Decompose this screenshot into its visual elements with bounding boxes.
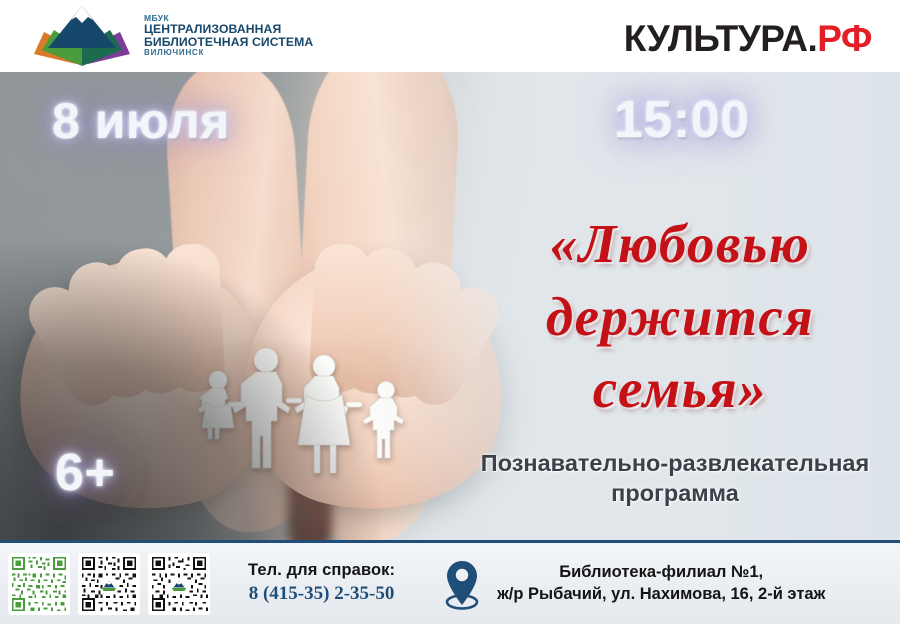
event-title-line-2: держится: [470, 281, 890, 354]
venue-address: Библиотека-филиал №1, ж/р Рыбачий, ул. Н…: [497, 562, 825, 604]
event-date: 8 июля: [52, 92, 230, 150]
address-line-1: Библиотека-филиал №1,: [497, 562, 825, 583]
poster-header: МБУК ЦЕНТРАЛИЗОВАННАЯ БИБЛИОТЕЧНАЯ СИСТЕ…: [0, 0, 900, 72]
event-title-line-1: «Любовью: [470, 208, 890, 281]
kultura-dot: .: [807, 18, 817, 59]
event-subtitle-line-1: Познавательно-развлекательная: [481, 450, 869, 476]
library-logo: МБУК ЦЕНТРАЛИЗОВАННАЯ БИБЛИОТЕЧНАЯ СИСТЕ…: [30, 4, 313, 68]
qr-code-black-1[interactable]: [78, 553, 140, 615]
event-subtitle: Познавательно-развлекательная программа: [455, 448, 895, 508]
event-title: «Любовью держится семья»: [470, 208, 890, 426]
phone-info: Тел. для справок: 8 (415-35) 2-35-50: [248, 561, 395, 606]
qr-code-black-2[interactable]: [148, 553, 210, 615]
kultura-rf-brand: КУЛЬТУРА.РФ: [624, 18, 872, 60]
age-rating-badge: 6+: [55, 443, 115, 503]
event-time: 15:00: [614, 90, 750, 150]
logo-line-city: ВИЛЮЧИНСК: [144, 49, 313, 58]
event-subtitle-line-2: программа: [611, 480, 739, 506]
logo-text-group: МБУК ЦЕНТРАЛИЗОВАННАЯ БИБЛИОТЕЧНАЯ СИСТЕ…: [144, 14, 313, 58]
phone-number[interactable]: 8 (415-35) 2-35-50: [248, 583, 395, 606]
poster-root: МБУК ЦЕНТРАЛИЗОВАННАЯ БИБЛИОТЕЧНАЯ СИСТЕ…: [0, 0, 900, 624]
event-title-line-3: семья»: [470, 353, 890, 426]
kultura-word: КУЛЬТУРА: [624, 18, 808, 59]
poster-footer: Тел. для справок: 8 (415-35) 2-35-50 Биб…: [0, 540, 900, 624]
address-line-2: ж/р Рыбачий, ул. Нахимова, 16, 2-й этаж: [497, 584, 825, 605]
volcano-book-logo-icon: [30, 4, 134, 68]
qr-code-group: [0, 553, 210, 615]
qr-code-green[interactable]: [8, 553, 70, 615]
phone-label: Тел. для справок:: [248, 561, 395, 581]
map-pin-icon: [441, 557, 483, 611]
kultura-rf-suffix: РФ: [817, 18, 872, 59]
